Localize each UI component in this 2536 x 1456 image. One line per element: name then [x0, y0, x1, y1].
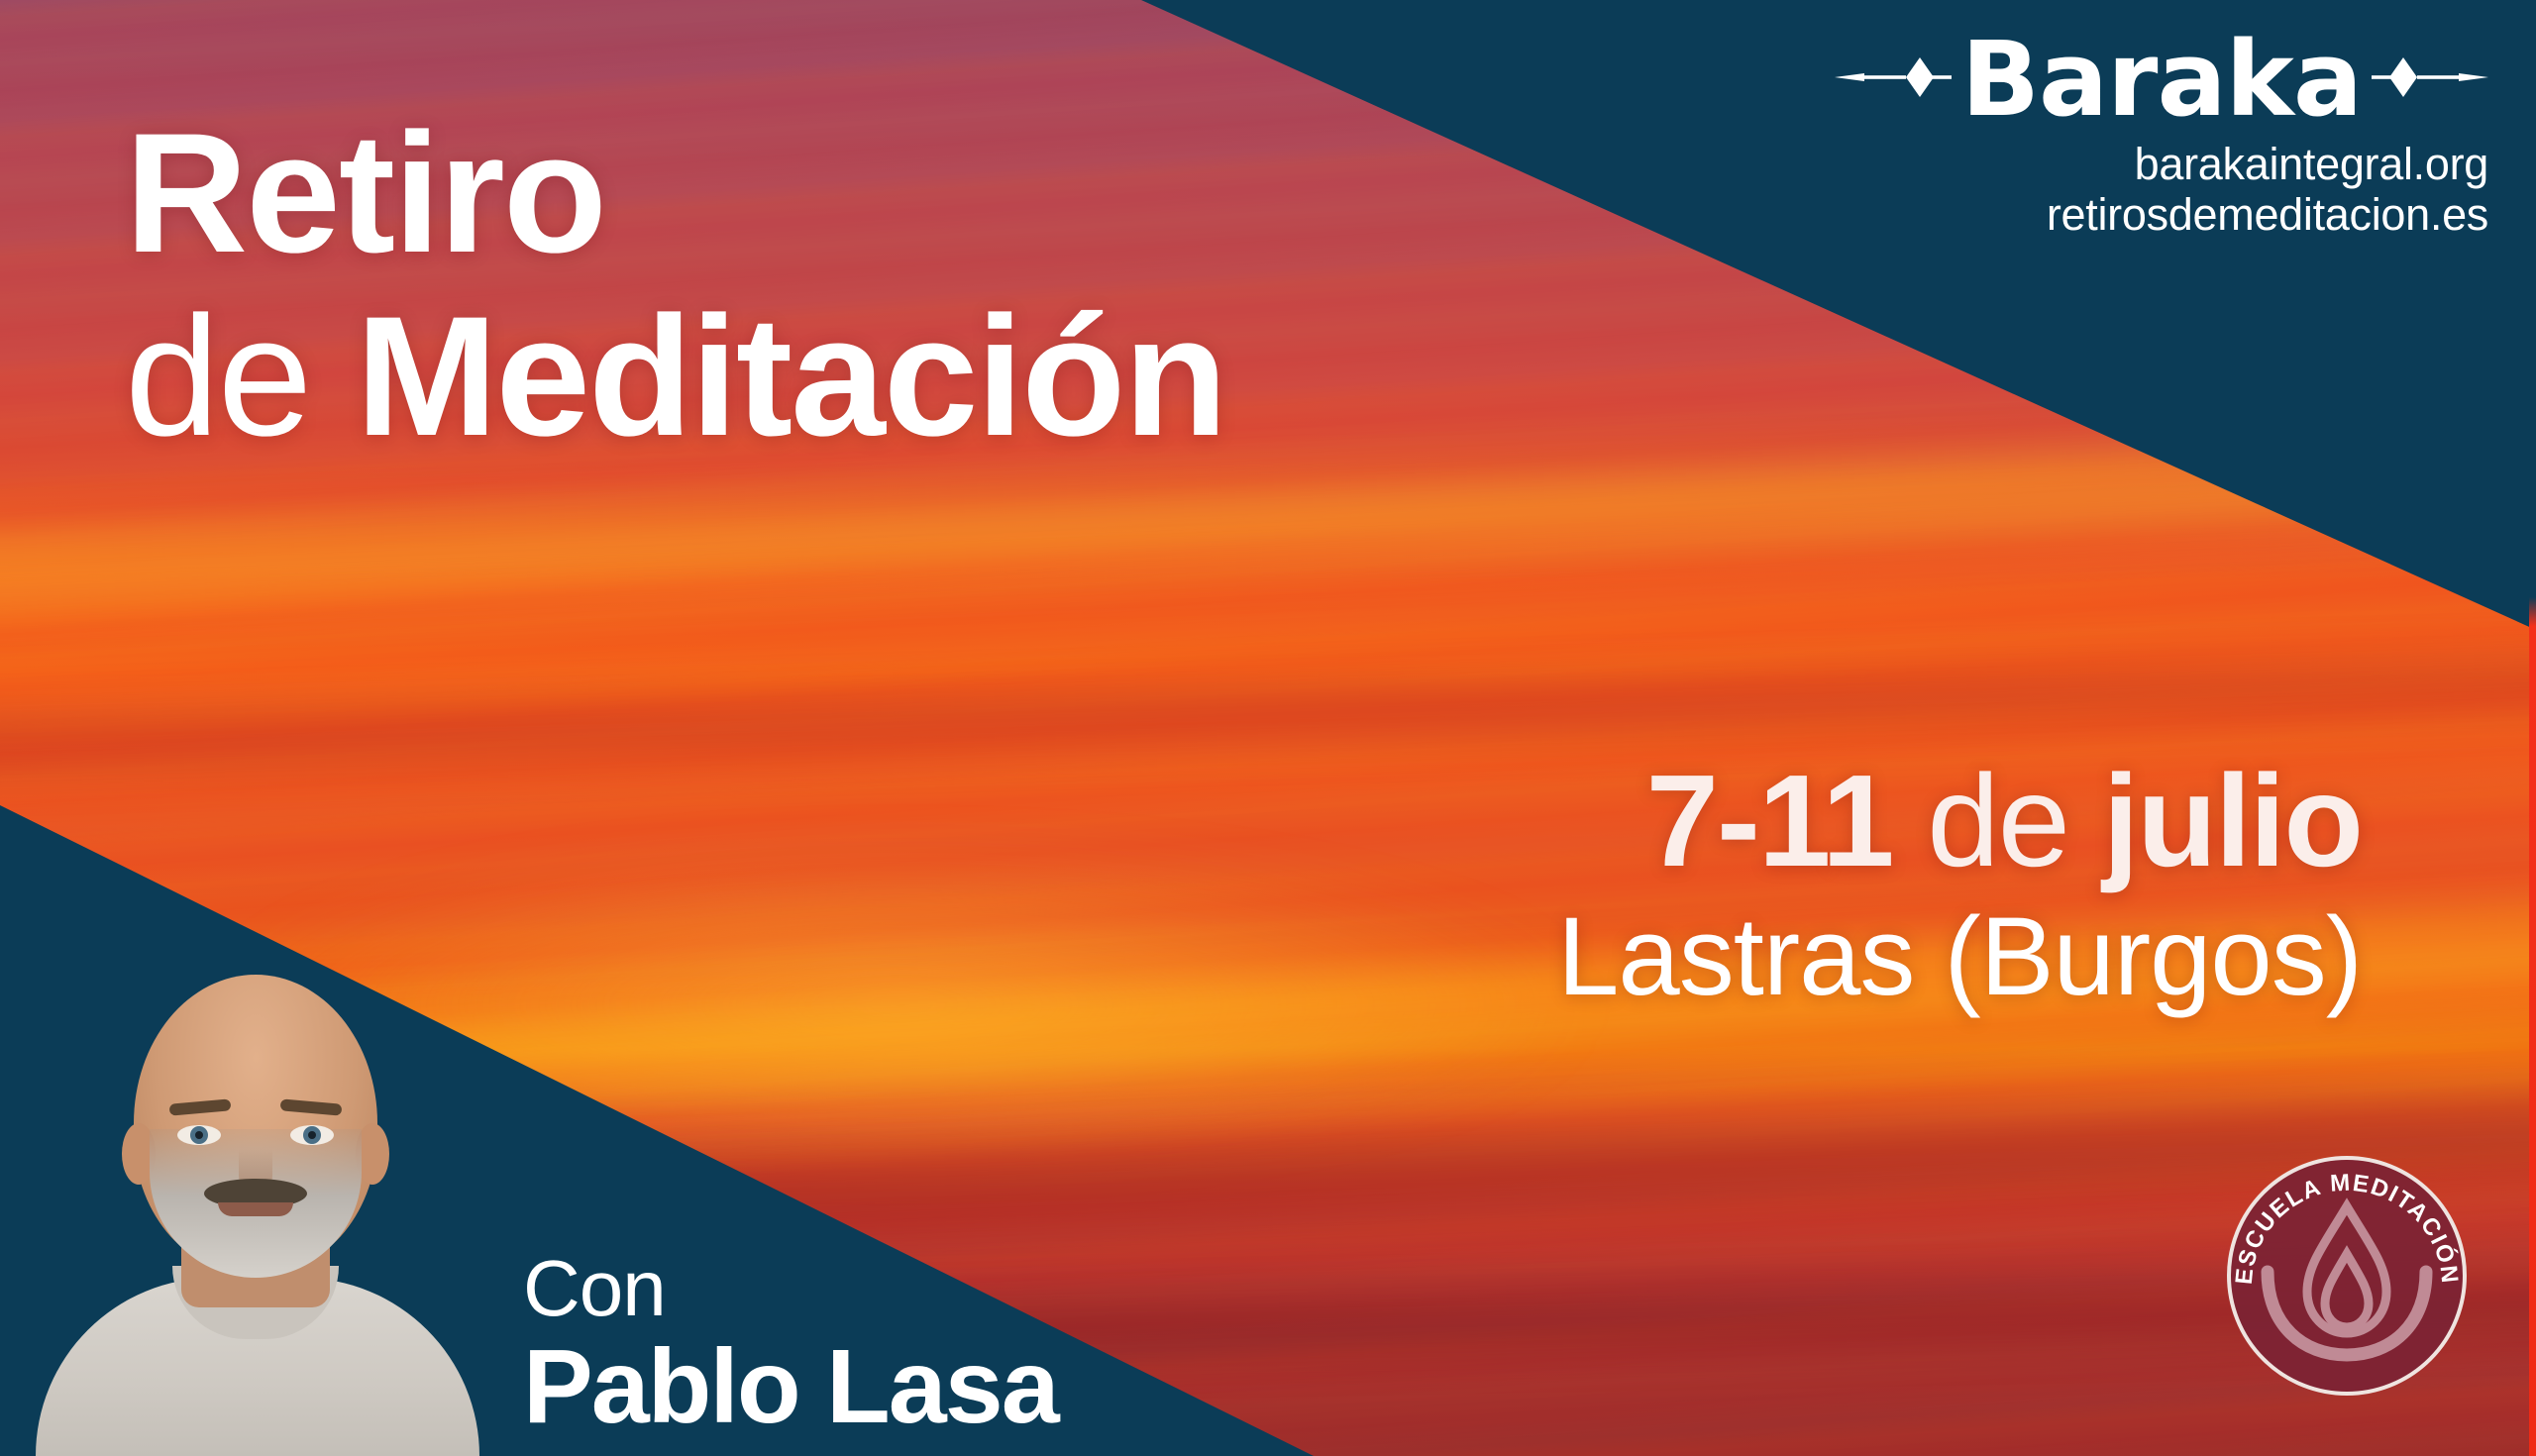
headline-block: Retiro de Meditación [125, 107, 1225, 465]
event-date: 7-11 de julio [1557, 753, 2362, 890]
presenter-eye-right [290, 1125, 334, 1145]
diamond-arrow-right-icon [2372, 52, 2488, 108]
presenter-iris-left [190, 1126, 208, 1144]
headline-line-2-light: de [125, 281, 356, 471]
brand-url-primary[interactable]: barakaintegral.org [1775, 139, 2488, 189]
presenter-mouth [218, 1202, 293, 1216]
presenter-iris-right [303, 1126, 321, 1144]
headline-line-1: Retiro [125, 107, 1225, 280]
baraka-wordmark[interactable]: Baraka [1775, 26, 2488, 133]
event-location: Lastras (Burgos) [1557, 898, 2362, 1015]
presenter-eye-left [177, 1125, 221, 1145]
brand-url-secondary[interactable]: retirosdemeditacion.es [1775, 189, 2488, 240]
escuela-meditacion-badge[interactable]: ESCUELA MEDITACIÓN [2222, 1151, 2472, 1401]
brand-urls: barakaintegral.org retirosdemeditacion.e… [1775, 139, 2488, 241]
presenter-name: Pablo Lasa [523, 1331, 1058, 1442]
event-date-month: julio [2103, 748, 2362, 893]
event-details-block: 7-11 de julio Lastras (Burgos) [1557, 753, 2362, 1014]
poster-canvas: Baraka barakaintegral.org retirosdemedit… [0, 0, 2536, 1456]
presenter-eyebrow-left [169, 1098, 232, 1115]
presenter-eyebrow-right [280, 1098, 343, 1115]
presenter-prefix: Con [523, 1247, 1058, 1331]
event-date-connector: de [1893, 748, 2103, 893]
presenter-photo [48, 981, 464, 1456]
headline-line-2-bold: Meditación [356, 281, 1225, 471]
baraka-wordmark-text: Baraka [1961, 28, 2362, 131]
headline-line-2: de Meditación [125, 290, 1225, 464]
presenter-credit-block: Con Pablo Lasa [523, 1247, 1058, 1442]
event-date-range: 7-11 [1646, 748, 1893, 893]
right-edge-accent-strip [2529, 0, 2536, 1456]
brand-logo-block: Baraka barakaintegral.org retirosdemedit… [1775, 26, 2488, 241]
diamond-arrow-left-icon [1835, 52, 1952, 108]
presenter-head [134, 975, 377, 1272]
